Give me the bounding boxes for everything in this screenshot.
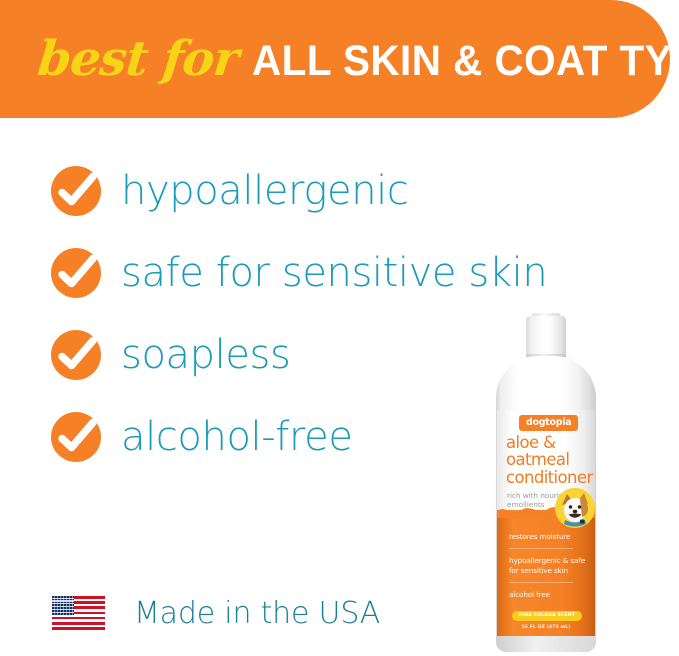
check-circle-icon [50,247,102,299]
benefit-label: safe for sensitive skin [121,253,547,293]
product-name-line-2: oatmeal [506,451,593,468]
benefit-label: alcohol-free [121,417,353,457]
made-in-usa-row: Made in the USA [52,596,380,631]
benefits-list: hypoallergenic safe for sensitive skin s… [50,150,520,478]
header-banner: best for ALL SKIN & COAT TYPES [0,0,670,118]
claim-divider-1 [509,548,573,549]
check-circle-icon [50,329,102,381]
product-name-line-1: aloe & [506,434,593,451]
benefit-item-hypoallergenic: hypoallergenic [50,150,520,232]
dog-photo-icon [555,488,595,528]
check-circle-icon [50,411,102,463]
usa-flag-icon [52,596,105,631]
product-claim-2-line-1: hypoallergenic & safe [509,556,585,566]
benefit-item-safe-for-sensitive-skin: safe for sensitive skin [50,232,520,314]
product-claim-2-line-2: for sensitive skin [509,566,585,576]
bottle-cap [526,316,566,358]
product-claim-2: hypoallergenic & safe for sensitive skin [509,556,585,575]
benefit-label: hypoallergenic [121,171,408,211]
brand-logo-tag: dogtopia [519,415,578,431]
product-name-line-3: conditioner [506,469,593,486]
benefit-item-alcohol-free: alcohol-free [50,396,520,478]
net-weight-label: 16 FL OZ (473 mL) [497,625,595,630]
banner-script-text: best for [35,35,240,83]
bottle-label: dogtopia aloe & oatmeal conditioner rich… [497,410,595,638]
scent-badge-label: PIÑA COLADA SCENT [519,614,575,619]
made-in-usa-label: Made in the USA [134,599,380,629]
check-circle-icon [50,165,102,217]
product-name: aloe & oatmeal conditioner [506,434,593,486]
product-claim-3: alcohol free [509,590,550,600]
claim-divider-2 [509,582,573,583]
scent-badge: PIÑA COLADA SCENT [512,611,582,621]
banner-text-group: best for ALL SKIN & COAT TYPES [38,35,670,83]
bottle-body: dogtopia aloe & oatmeal conditioner rich… [496,356,596,652]
bottle-base [496,636,596,652]
benefit-item-soapless: soapless [50,314,520,396]
banner-headline-text: ALL SKIN & COAT TYPES [252,40,670,83]
product-claim-1: restores moisture [509,532,570,542]
product-bottle-image: dogtopia aloe & oatmeal conditioner rich… [496,316,596,652]
benefit-label: soapless [121,335,290,375]
